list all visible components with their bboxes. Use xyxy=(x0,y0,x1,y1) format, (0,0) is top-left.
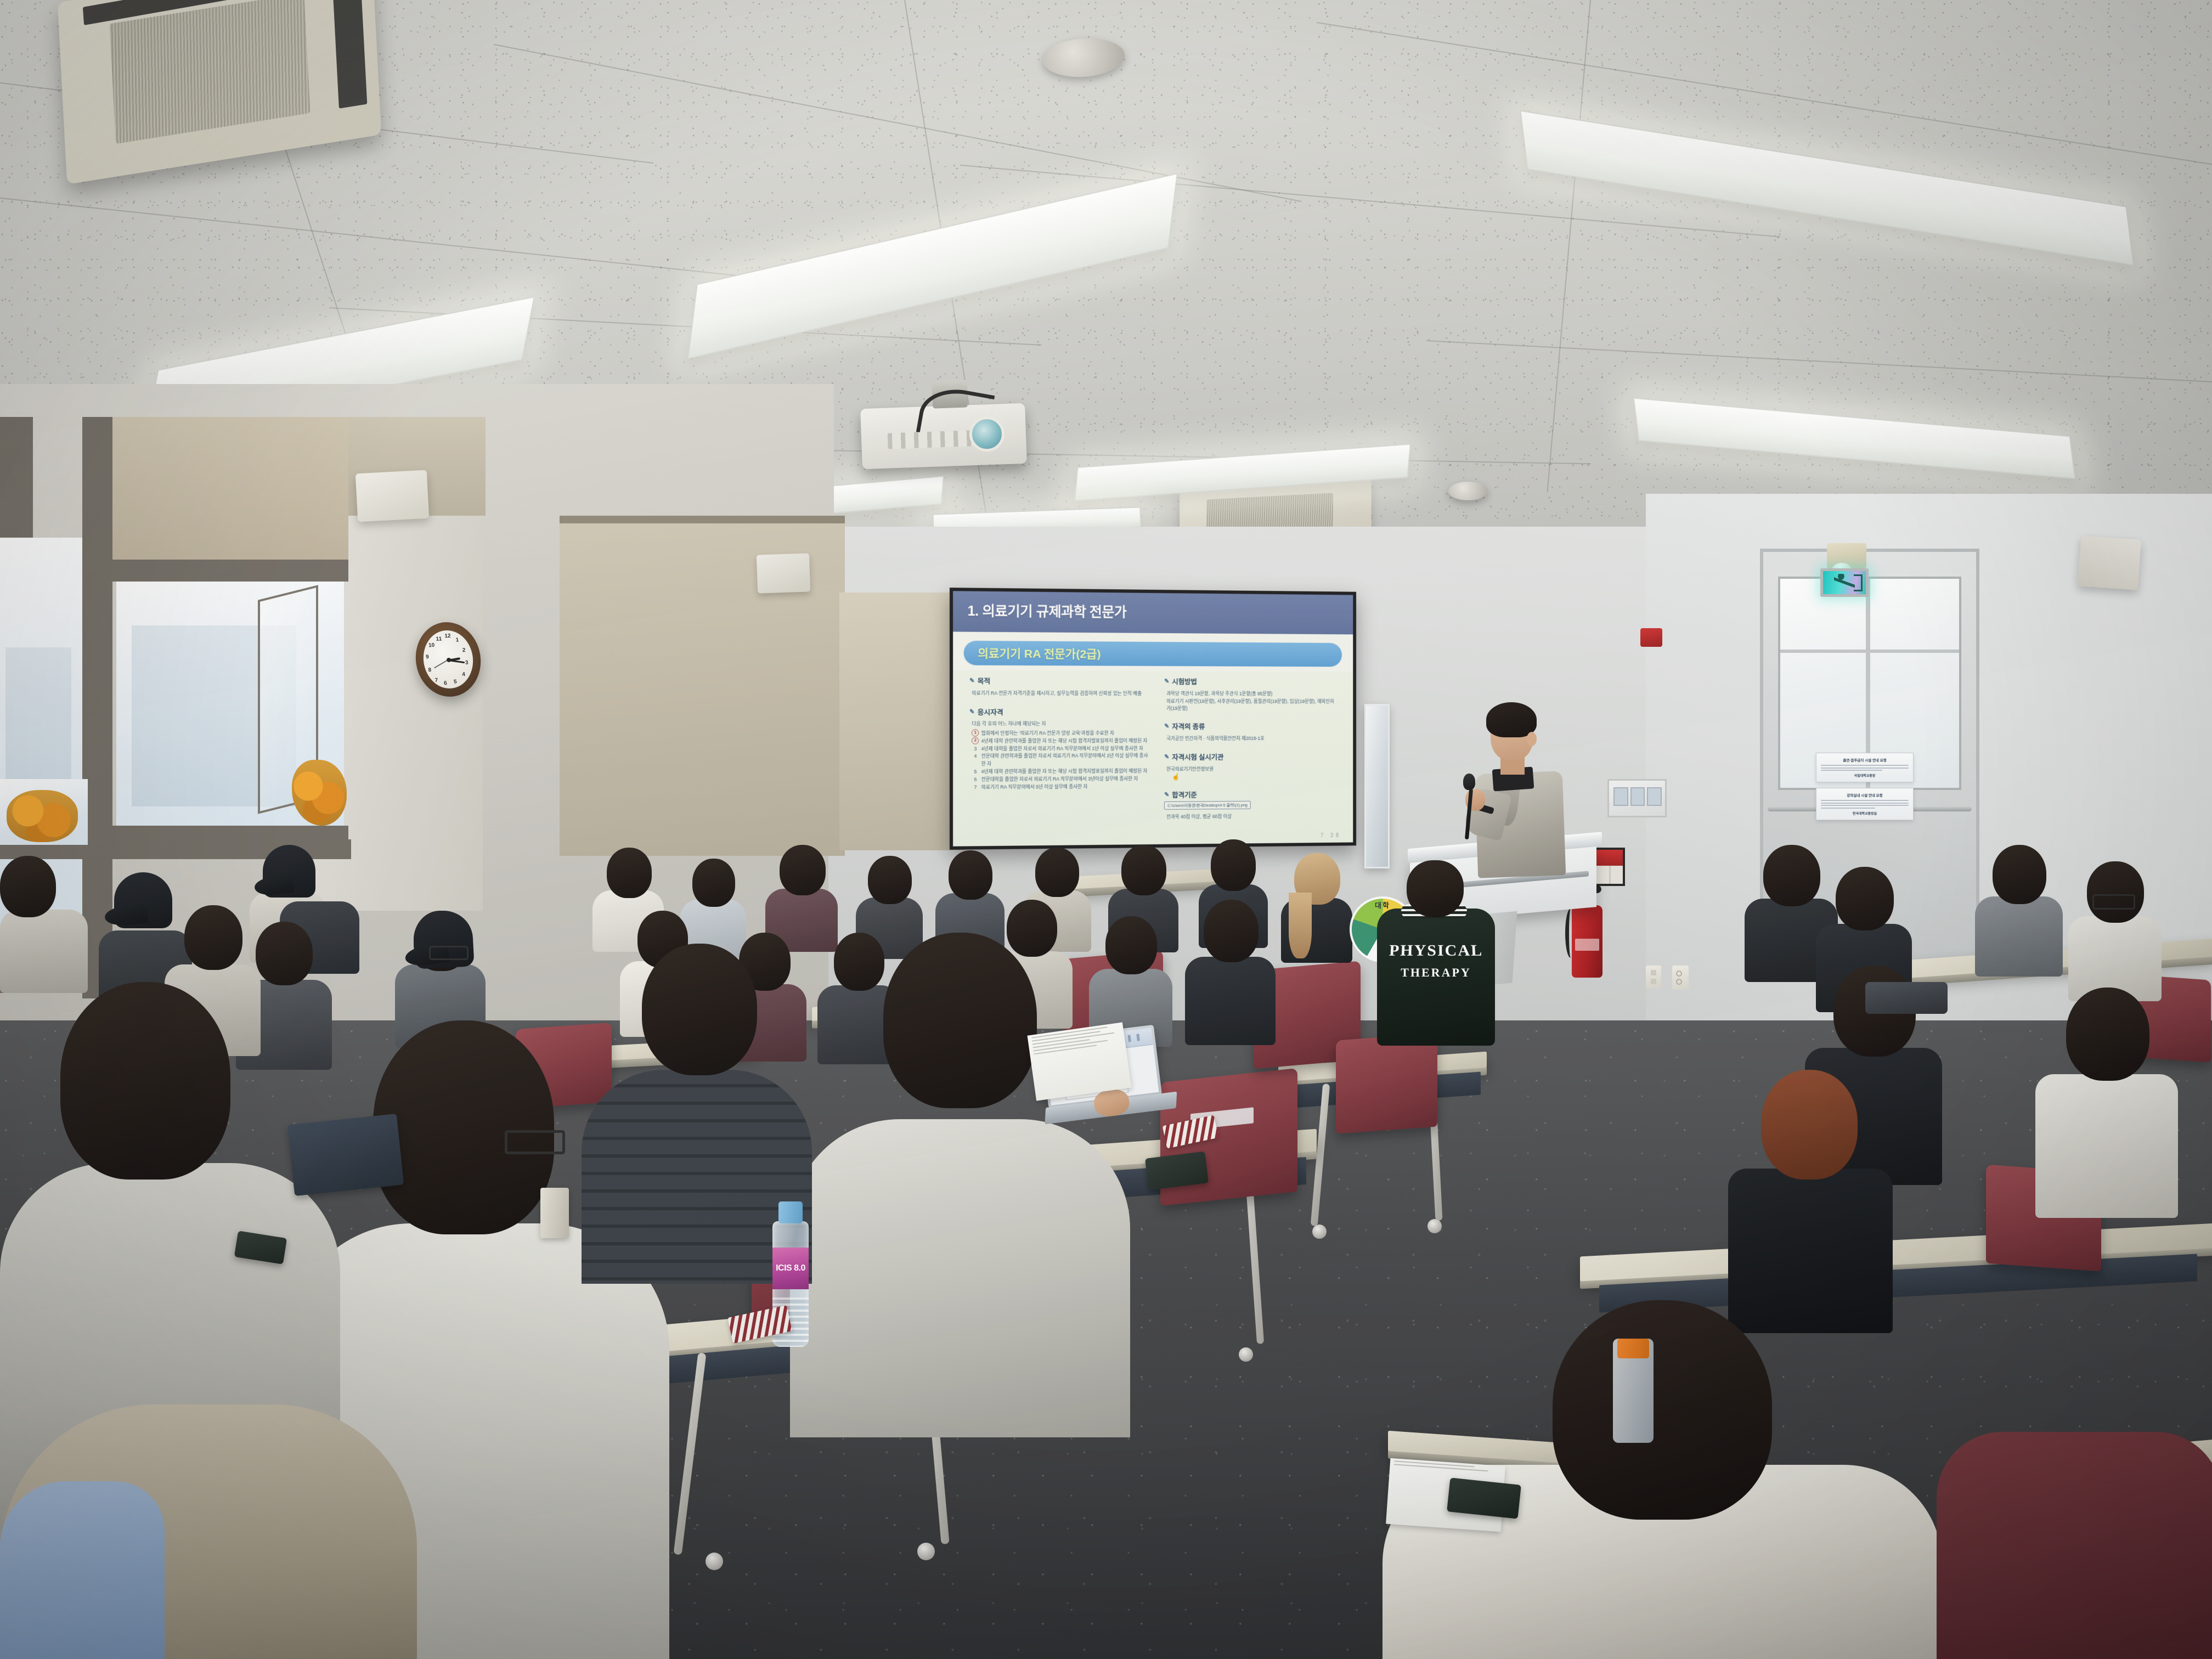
bottle-cap[interactable] xyxy=(778,1201,803,1223)
student-torso xyxy=(790,1119,1130,1437)
circled-number: 1 xyxy=(972,729,979,736)
printed-handout[interactable] xyxy=(1028,1022,1132,1101)
notice-2: 강의실내 시설 안내 요청 한국대학교총장실 xyxy=(1816,788,1914,820)
slide-banner-text: 의료기기 RA 전문가(2급) xyxy=(978,645,1101,662)
door-mullion xyxy=(1780,650,1959,653)
list-item: 7의료기기 RA 직무분야에서 5년 이상 실무에 종사한 자 xyxy=(972,783,1148,792)
eyeglasses xyxy=(2092,894,2135,910)
slide-page-number: 7 38 xyxy=(1321,833,1341,839)
section-heading-text: 시험방법 xyxy=(1172,676,1197,687)
presenter-ear xyxy=(1527,732,1537,746)
student-torso xyxy=(1185,957,1276,1045)
student-foreground-far-right xyxy=(1937,1306,2212,1659)
list-number: 5 xyxy=(972,769,979,776)
blue-sleeve xyxy=(0,1481,165,1659)
list-number: 7 xyxy=(972,784,979,792)
window-blind xyxy=(112,417,348,560)
clock-numeral: 4 xyxy=(462,672,465,678)
student-torso xyxy=(1937,1432,2212,1659)
student-blonde xyxy=(1281,853,1352,963)
student-blue-sleeve xyxy=(0,1481,165,1659)
notice-footer: 국립대학교총장 xyxy=(1821,773,1909,778)
section-heading: ✎ 목적 xyxy=(969,675,1148,686)
pencil-icon: ✎ xyxy=(1164,753,1169,760)
section-heading: ✎ 시험방법 xyxy=(1164,676,1338,687)
exit-door-icon xyxy=(1854,574,1863,591)
student-varsity-jacket: PHYSICAL THERAPY xyxy=(1377,880,1495,1045)
slide-section-pass-criteria: ✎ 합격기준 C:\Users\이동영\한국Desktop\4·5 출력\(1)… xyxy=(1164,788,1338,821)
varsity-text-line-2: THERAPY xyxy=(1377,966,1495,980)
list-item-text: 4년제 대학 관련학과를 졸업한 자 또는 해당 시험 합격자발표일까지 졸업이… xyxy=(981,737,1148,746)
student-head xyxy=(883,933,1037,1108)
ceiling-speaker-dome-2 xyxy=(1448,482,1488,500)
desk-caster xyxy=(1427,1219,1442,1233)
emergency-exit-sign xyxy=(1820,568,1869,597)
student-head xyxy=(1035,848,1079,897)
slide-body: ✎ 목적 의료기기 RA 전문가 자격기준을 제시하고, 실무능력을 검증하여 … xyxy=(953,670,1353,847)
clock-numeral: 2 xyxy=(462,647,465,653)
baseball-cap xyxy=(412,909,474,969)
autumn-foliage-2 xyxy=(7,790,78,842)
clock-numeral: 10 xyxy=(428,642,435,648)
list-number: 4 xyxy=(972,753,979,760)
student xyxy=(0,856,88,993)
clock-numeral: 6 xyxy=(444,680,447,686)
slide-title: 1. 의료기기 규제과학 전문가 xyxy=(967,600,1126,621)
student-head xyxy=(1763,845,1820,906)
section-heading-text: 목적 xyxy=(978,675,991,686)
student-torso xyxy=(2035,1074,2178,1218)
clock-numeral: 1 xyxy=(455,637,459,643)
outlet-socket xyxy=(1676,970,1682,977)
fire-extinguisher[interactable] xyxy=(1572,905,1602,978)
notice-footer: 한국대학교총장실 xyxy=(1821,811,1909,816)
student xyxy=(2035,988,2178,1218)
section-heading-text: 자격의 종류 xyxy=(1172,721,1205,731)
power-outlet[interactable] xyxy=(1672,966,1689,990)
lecture-hall-photo: 12 1 2 3 4 5 6 7 8 9 10 11 1. 의료기기 규제과학 … xyxy=(0,0,2212,1659)
section-heading-text: 응시자격 xyxy=(978,706,1003,716)
notice-line xyxy=(1821,770,1882,771)
light-switch[interactable] xyxy=(1646,966,1661,989)
pencil-icon: ✎ xyxy=(1164,678,1169,685)
notice-line xyxy=(1821,803,1909,804)
notice-line xyxy=(1821,768,1909,769)
notice-1: 흡연·음주금지 시설 안내 요청 국립대학교총장 xyxy=(1816,753,1914,782)
student xyxy=(2068,861,2162,1001)
notice-line xyxy=(1821,765,1909,766)
list-item-text: 의료기기 RA 직무분야에서 5년 이상 실무에 종사한 자 xyxy=(981,783,1088,792)
student-head xyxy=(1553,1300,1772,1520)
section-body: 국가공인 민간자격 · 식품의약품안전처 제2019-1호 xyxy=(1166,735,1338,743)
outlet-socket xyxy=(1676,979,1682,985)
window-frame-top xyxy=(112,560,348,582)
slide-section-purpose: ✎ 목적 의료기기 RA 전문가 자격기준을 제시하고, 실무능력을 검증하여 … xyxy=(969,675,1148,697)
list-number: 6 xyxy=(972,776,979,784)
student-grey-hoodie xyxy=(790,933,1130,1437)
projector-ports xyxy=(888,430,974,449)
list-item: 4전문대학 관련학과를 졸업한 자로서 의료기기 RA 직무분야에서 2년 이상… xyxy=(972,752,1148,768)
presentation-slide: 1. 의료기기 규제과학 전문가 의료기기 RA 전문가(2급) ✎ 목적 의료… xyxy=(953,591,1353,846)
wall-speaker-left xyxy=(356,470,429,522)
eligibility-intro: 다음 각 호의 어느 하나에 해당되는 자 xyxy=(972,720,1148,728)
desk-caster xyxy=(706,1553,723,1570)
list-item-text: 4년제 대학 관련학과를 졸업한 자 또는 해당 시험 합격자발표일까지 졸업이… xyxy=(981,768,1148,776)
ac-vane xyxy=(332,0,367,108)
handheld-microphone xyxy=(1463,774,1475,790)
clock-numeral: 12 xyxy=(444,633,451,639)
extinguisher-label xyxy=(1575,939,1600,951)
student-torso xyxy=(0,910,88,993)
chair[interactable] xyxy=(1336,1034,1437,1134)
list-item-text: 협회에서 인정하는 '의료기기 RA 전문가 양성 교육'과정을 수료한 자 xyxy=(981,730,1114,737)
notice-line xyxy=(1821,808,1875,809)
student-head xyxy=(2087,861,2144,923)
projector-lens-icon xyxy=(969,416,1005,452)
panel-switch[interactable] xyxy=(1647,787,1662,806)
student-head xyxy=(1121,845,1166,895)
bottle-label-text: ICIS 8.0 xyxy=(776,1263,805,1273)
panel-switch[interactable] xyxy=(1630,787,1645,806)
section-heading: ✎ 자격의 종류 xyxy=(1164,721,1338,731)
notice-line xyxy=(1821,800,1909,801)
ceiling-projector xyxy=(860,403,1027,469)
wall-control-panel[interactable] xyxy=(1607,779,1667,817)
list-item: 34년제 대학을 졸업한 자로서 의료기기 RA 직무분야에서 1년 이상 실무… xyxy=(972,745,1148,753)
slide-left-column: ✎ 목적 의료기기 RA 전문가 자격기준을 제시하고, 실무능력을 검증하여 … xyxy=(969,675,1148,800)
section-heading: ✎ 합격기준 xyxy=(1164,788,1338,800)
student-head xyxy=(256,922,313,985)
list-number: 3 xyxy=(972,745,979,753)
bottle-label: ICIS 8.0 xyxy=(772,1248,809,1289)
student-head xyxy=(0,856,56,917)
student-head xyxy=(1993,845,2046,904)
clock-numeral: 7 xyxy=(435,677,438,683)
slide-banner: 의료기기 RA 전문가(2급) xyxy=(964,641,1342,667)
notice-title: 흡연·음주금지 시설 안내 요청 xyxy=(1821,757,1909,763)
clock-face: 12 1 2 3 4 5 6 7 8 9 10 11 xyxy=(421,630,475,690)
student-head xyxy=(184,905,242,970)
fire-alarm-bell[interactable] xyxy=(1640,628,1662,647)
student-head xyxy=(1836,867,1894,930)
section-heading: ✎ 자격시험 실시기관 xyxy=(1164,751,1338,762)
student-head xyxy=(949,850,992,900)
pencil-icon: ✎ xyxy=(1164,723,1169,730)
clock-numeral: 8 xyxy=(428,667,431,673)
emergency-light xyxy=(1827,543,1866,568)
roller-blind-small xyxy=(839,592,966,850)
student-torso xyxy=(1975,896,2063,977)
section-body: 전과목 40점 이상, 평균 60점 이상 xyxy=(1166,812,1338,821)
notice-title: 강의실내 시설 안내 요청 xyxy=(1821,792,1909,798)
slide-section-cert-type: ✎ 자격의 종류 국가공인 민간자격 · 식품의약품안전처 제2019-1호 xyxy=(1164,721,1338,742)
eligibility-list: 다음 각 호의 어느 하나에 해당되는 자 1협회에서 인정하는 '의료기기 R… xyxy=(972,720,1148,792)
list-item: 54년제 대학 관련학과를 졸업한 자 또는 해당 시험 합격자발표일까지 졸업… xyxy=(972,768,1148,776)
slide-section-eligibility: ✎ 응시자격 다음 각 호의 어느 하나에 해당되는 자 1협회에서 인정하는 … xyxy=(969,706,1148,792)
beverage-can[interactable] xyxy=(540,1188,569,1238)
presenter xyxy=(1462,708,1566,872)
desk-caster xyxy=(1239,1347,1253,1362)
whiteboard xyxy=(1364,704,1390,868)
panel-switch[interactable] xyxy=(1613,787,1628,806)
student-head xyxy=(60,982,230,1180)
student-head xyxy=(1211,839,1256,891)
baseball-cap xyxy=(114,872,172,928)
mouse-hand-cursor-icon: ☝ xyxy=(1172,772,1338,781)
eyeglasses xyxy=(505,1130,565,1154)
wall-speaker-left-2 xyxy=(757,553,810,593)
desk-caster xyxy=(1312,1224,1327,1239)
clock-numeral: 9 xyxy=(426,654,429,661)
section-heading: ✎ 응시자격 xyxy=(969,706,1148,716)
backpack[interactable] xyxy=(1865,982,1948,1014)
student-head xyxy=(868,856,912,904)
list-item: 24년제 대학 관련학과를 졸업한 자 또는 해당 시험 합격자발표일까지 졸업… xyxy=(972,737,1148,746)
clock-numeral: 11 xyxy=(436,636,442,642)
eyeglasses xyxy=(429,946,469,960)
list-item-text: 전문대학을 졸업한 자로서 의료기기 RA 직무분야에서 3년이상 실무에 종사… xyxy=(981,775,1138,783)
pencil-icon: ✎ xyxy=(1164,791,1169,798)
student-head xyxy=(1204,900,1259,962)
section-body: 과목당 객관식 18문항, 과목당 주관식 1문항(총 95문항) 의료기기 시… xyxy=(1166,690,1338,712)
tablet-device[interactable] xyxy=(287,1114,404,1196)
section-heading-text: 합격기준 xyxy=(1172,789,1197,800)
desk-caster xyxy=(917,1543,935,1560)
notice-line xyxy=(1821,805,1909,806)
ac-grille-icon xyxy=(109,0,311,144)
list-item: 6전문대학을 졸업한 자로서 의료기기 RA 직무분야에서 3년이상 실무에 종… xyxy=(972,775,1148,784)
list-item-text: 4년제 대학을 졸업한 자로서 의료기기 RA 직무분야에서 1년 이상 실무에… xyxy=(981,745,1143,753)
pencil-icon: ✎ xyxy=(969,708,974,715)
student-head xyxy=(692,859,735,907)
long-hair xyxy=(1289,893,1312,958)
section-body: 의료기기 RA 전문가 자격기준을 제시하고, 실무능력을 검증하여 신뢰성 있… xyxy=(972,690,1148,698)
blind-rail xyxy=(560,516,845,523)
list-item: 1협회에서 인정하는 '의료기기 RA 전문가 양성 교육'과정을 수료한 자 xyxy=(972,730,1148,737)
slide-section-exam-method: ✎ 시험방법 과목당 객관식 18문항, 과목당 주관식 1문항(총 95문항)… xyxy=(1164,676,1338,712)
clock-numeral: 5 xyxy=(454,679,457,685)
wall-speaker-right xyxy=(2078,535,2141,590)
slide-section-exam-org: ✎ 자격시험 실시기관 한국의료기기안전정보원 ☝ xyxy=(1164,751,1338,781)
list-item-text: 전문대학 관련학과를 졸업한 자로서 의료기기 RA 직무분야에서 2년 이상 … xyxy=(981,752,1148,768)
section-body: 한국의료기기안전정보원 xyxy=(1166,765,1338,772)
file-path-tooltip: C:\Users\이동영\한국Desktop\4·5 출력\(1).png xyxy=(1164,801,1251,810)
student-head xyxy=(1407,860,1464,917)
circled-number: 2 xyxy=(972,737,979,744)
student-red-hair xyxy=(1728,1070,1893,1333)
varsity-text-line-1: PHYSICAL xyxy=(1376,942,1496,960)
student xyxy=(1185,900,1276,1045)
student-head xyxy=(2066,988,2149,1081)
student xyxy=(1975,845,2063,977)
student-head xyxy=(373,1020,554,1234)
student-head-red-hair xyxy=(1761,1070,1858,1180)
section-heading-text: 자격시험 실시기관 xyxy=(1172,751,1223,761)
student-head xyxy=(607,848,652,898)
running-person-icon xyxy=(1834,574,1854,591)
student-head xyxy=(642,944,757,1075)
clock-numeral: 3 xyxy=(465,660,469,666)
projection-screen: 1. 의료기기 규제과학 전문가 의료기기 RA 전문가(2급) ✎ 목적 의료… xyxy=(950,588,1356,850)
slide-right-column: ✎ 시험방법 과목당 객관식 18문항, 과목당 주관식 1문항(총 95문항)… xyxy=(1164,676,1338,830)
extinguisher-hose xyxy=(1565,909,1576,958)
pencil-icon: ✎ xyxy=(969,677,974,684)
student-head xyxy=(780,845,826,895)
bottle-cap-orange[interactable] xyxy=(1617,1339,1649,1358)
